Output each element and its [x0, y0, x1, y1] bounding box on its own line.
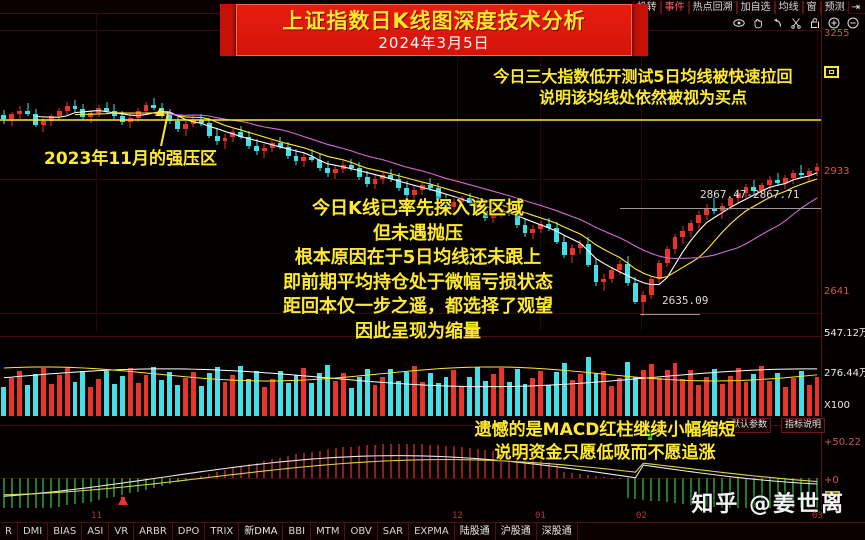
candlestick — [65, 14, 70, 332]
volume-bar — [309, 383, 314, 416]
volume-bar — [483, 381, 488, 416]
page-title: 上证指数日K线图深度技术分析 — [237, 8, 631, 34]
macd-histogram-bar — [271, 459, 273, 478]
macd-histogram-bar — [350, 447, 352, 478]
macd-histogram-bar — [327, 449, 329, 478]
volume-bar — [767, 381, 772, 416]
date-tick-label: 11 — [91, 511, 102, 521]
volume-bar — [562, 363, 567, 416]
candlestick — [783, 14, 788, 332]
volume-bar — [507, 382, 512, 417]
volume-bar — [325, 365, 330, 416]
macd-histogram-bar — [342, 447, 344, 478]
volume-bar — [33, 374, 38, 416]
volume-bar — [333, 381, 338, 416]
volume-bar — [641, 370, 646, 416]
macd-histogram-bar — [556, 464, 558, 478]
volume-bar — [775, 373, 780, 416]
volume-bar — [254, 371, 259, 416]
candlestick — [33, 14, 38, 332]
macd-histogram-bar — [19, 478, 21, 508]
volume-bar — [183, 378, 188, 416]
candlestick — [807, 14, 812, 332]
volume-bar — [467, 377, 472, 416]
candlestick — [144, 14, 149, 332]
macd-tick-high: +50.22 — [824, 437, 861, 448]
volume-bar — [17, 371, 22, 416]
volume-bar — [712, 369, 717, 416]
macd-histogram-bar — [287, 456, 289, 478]
date-tick-label: 03 — [812, 511, 823, 521]
macd-histogram-bar — [303, 453, 305, 478]
volume-bar — [538, 371, 543, 416]
volume-bar — [65, 367, 70, 416]
volume-bar — [673, 363, 678, 416]
toolbar-button-group: 机转 事件 热点回溯 加自选 均线 窗 预测 ⇥ — [633, 0, 863, 14]
macd-histogram-bar — [366, 445, 368, 478]
volume-bar — [238, 366, 243, 416]
volume-bar — [759, 366, 764, 416]
volume-bar — [373, 385, 378, 416]
macd-histogram-bar — [674, 478, 676, 503]
volume-bar — [1, 387, 6, 416]
indicator-button-R[interactable]: R — [0, 523, 18, 540]
volume-bar — [294, 375, 299, 416]
volume-bar — [215, 367, 220, 416]
volume-bar — [357, 377, 362, 417]
volume-bar — [278, 371, 283, 416]
volume-bar — [601, 371, 606, 416]
indicator-button-MTM[interactable]: MTM — [311, 523, 345, 540]
volume-bar — [649, 364, 654, 416]
candlestick — [673, 14, 678, 332]
macd-histogram-bar — [595, 476, 597, 478]
volume-bar — [720, 384, 725, 416]
indicator-button-沪股通[interactable]: 沪股通 — [496, 523, 537, 540]
candlestick — [128, 14, 133, 332]
macd-histogram-bar — [319, 451, 321, 478]
macd-histogram-bar — [295, 454, 297, 478]
macd-buy-signal-icon — [118, 496, 128, 505]
date-tick-label: 12 — [452, 511, 463, 521]
indicator-button-DMI[interactable]: DMI — [18, 523, 48, 540]
macd-histogram-bar — [113, 478, 115, 497]
volume-bar — [270, 379, 275, 416]
annotation-middle-line4: 即前期平均持仓处于微幅亏损状态 — [168, 271, 668, 296]
macd-histogram-bar — [177, 478, 179, 482]
volume-bar — [199, 386, 204, 416]
volume-bar — [388, 369, 393, 416]
macd-histogram-bar — [98, 478, 100, 500]
macd-histogram-bar — [145, 478, 147, 490]
macd-histogram-bar — [42, 478, 44, 508]
macd-tick-zero: +0 — [824, 475, 839, 486]
candlestick — [41, 14, 46, 332]
volume-bar — [151, 367, 156, 416]
macd-histogram-bar — [619, 478, 621, 479]
indicator-button-BBI[interactable]: BBI — [283, 523, 311, 540]
volume-bar — [594, 373, 599, 416]
annotation-top-right-line1: 今日三大指数低开测试5日均线被快速拉回 — [443, 66, 843, 87]
volume-bar — [262, 387, 267, 416]
volume-bar — [815, 377, 820, 416]
volume-bar — [728, 376, 733, 416]
volume-bar — [365, 369, 370, 416]
candlestick — [57, 14, 62, 332]
indicator-button-新DMA[interactable]: 新DMA — [239, 523, 283, 540]
annotation-left-zone: 2023年11月的强压区 — [44, 148, 217, 170]
volume-bar — [459, 386, 464, 416]
volume-bar — [207, 373, 212, 416]
volume-bar — [128, 368, 133, 416]
volume-bar — [428, 373, 433, 416]
date-tick-label: 01 — [535, 511, 546, 521]
volume-bar — [546, 385, 551, 416]
indicator-toolbar: RDMIBIASASIVRARBRDPOTRIX新DMABBIMTMOBVSAR… — [0, 522, 865, 540]
macd-histogram-bar — [161, 478, 163, 486]
tab-chuang[interactable]: 窗 — [803, 1, 821, 14]
volume-bar — [9, 378, 14, 416]
macd-histogram-bar — [137, 478, 139, 492]
candlestick — [25, 14, 30, 332]
volume-bar — [57, 375, 62, 416]
macd-histogram-bar — [27, 478, 29, 508]
macd-histogram-bar — [185, 478, 187, 480]
annotation-macd-line1: 遗憾的是MACD红柱继续小幅缩短 — [385, 419, 825, 442]
volume-bar — [167, 372, 172, 416]
volume-bar — [554, 372, 559, 416]
candlestick — [1, 14, 6, 332]
macd-histogram-bar — [216, 472, 218, 478]
candlestick — [112, 14, 117, 332]
volume-bar — [380, 377, 385, 416]
macd-histogram-bar — [129, 478, 131, 493]
macd-histogram-bar — [603, 477, 605, 478]
volume-bar — [586, 357, 591, 416]
volume-bar — [530, 378, 535, 416]
trading-chart-app: 机转 事件 热点回溯 加自选 均线 窗 预测 ⇥ — [0, 0, 865, 540]
macd-histogram-bar — [382, 444, 384, 478]
volume-bar — [246, 379, 251, 416]
volume-bar — [420, 382, 425, 417]
macd-histogram-bar — [3, 478, 5, 508]
tab-jiazixuan[interactable]: 加自选 — [737, 1, 775, 14]
macd-histogram-bar — [374, 445, 376, 478]
annotation-middle: 今日K线已率先探入该区域 但未遇抛压 根本原因在于5日均线还未跟上 即前期平均持… — [168, 197, 668, 344]
annotation-macd: 遗憾的是MACD红柱继续小幅缩短 说明资金只愿低吸而不愿追涨 — [385, 419, 825, 465]
volume-bar — [751, 374, 756, 416]
volume-bar — [491, 374, 496, 416]
annotation-top-right: 今日三大指数低开测试5日均线被快速拉回 说明该均线处依然被视为买点 — [443, 66, 843, 108]
volume-bar — [475, 367, 480, 416]
macd-histogram-bar — [169, 478, 171, 484]
volume-bar — [444, 377, 449, 416]
annotation-middle-line3: 根本原因在于5日均线还未跟上 — [168, 246, 668, 271]
candlestick — [775, 14, 780, 332]
annotation-middle-line2: 但未遇抛压 — [168, 222, 668, 247]
zone-arrow-icon — [155, 108, 165, 116]
candlestick — [73, 14, 78, 332]
macd-histogram-bar — [634, 478, 636, 499]
macd-histogram-bar — [358, 446, 360, 478]
indicator-button-BIAS[interactable]: BIAS — [48, 523, 82, 540]
macd-histogram-bar — [240, 466, 242, 478]
candlestick — [704, 14, 709, 332]
volume-bar — [341, 373, 346, 416]
volume-bar — [570, 380, 575, 416]
volume-bar — [704, 377, 709, 416]
macd-histogram-bar — [563, 472, 565, 478]
volume-bar — [680, 379, 685, 416]
candlestick — [136, 14, 141, 332]
volume-bar — [665, 370, 670, 416]
macd-histogram-bar — [224, 470, 226, 478]
indicator-button-SAR[interactable]: SAR — [378, 523, 409, 540]
indicator-button-陆股通[interactable]: 陆股通 — [455, 523, 496, 540]
volume-bar — [436, 383, 441, 416]
tab-redian-huisu[interactable]: 热点回溯 — [689, 1, 737, 14]
volume-bar — [144, 375, 149, 416]
macd-histogram-bar — [263, 461, 265, 478]
candlestick — [159, 14, 164, 332]
macd-histogram-bar — [571, 473, 573, 478]
candlestick — [712, 14, 717, 332]
indicator-button-VR[interactable]: VR — [109, 523, 134, 540]
volume-panel[interactable] — [0, 336, 821, 416]
volume-bar — [499, 368, 504, 416]
macd-histogram-bar — [579, 474, 581, 478]
macd-histogram-bar — [200, 476, 202, 478]
volume-bar — [349, 388, 354, 416]
volume-bar — [175, 385, 180, 416]
candlestick — [791, 14, 796, 332]
volume-bar — [112, 384, 117, 416]
resistance-range-tag: 2867.47-2867.71 — [700, 188, 799, 201]
price-tick-2641: 2641 — [824, 286, 849, 297]
volume-bar — [696, 385, 701, 416]
annotation-middle-line5: 距回本仅一步之遥，都选择了观望 — [168, 295, 668, 320]
candlestick — [728, 14, 733, 332]
annotation-macd-line2: 说明资金只愿低吸而不愿追涨 — [385, 442, 825, 465]
volume-tick-high: 547.12万 — [824, 324, 865, 339]
indicator-button-EXPMA[interactable]: EXPMA — [409, 523, 455, 540]
volume-bar — [633, 377, 638, 416]
candlestick — [799, 14, 804, 332]
candlestick — [17, 14, 22, 332]
volume-bar — [404, 372, 409, 416]
volume-bar — [617, 378, 622, 416]
volume-bar — [230, 375, 235, 416]
macd-histogram-bar — [11, 478, 13, 508]
tab-junxian[interactable]: 均线 — [775, 1, 803, 14]
macd-histogram-bar — [642, 478, 644, 500]
volume-bar — [451, 370, 456, 416]
candlestick — [49, 14, 54, 332]
candlestick — [151, 14, 156, 332]
macd-histogram-bar — [106, 478, 108, 498]
candlestick — [680, 14, 685, 332]
price-tick-2933: 2933 — [824, 166, 849, 177]
volume-bar — [515, 369, 520, 416]
collapse-right-icon[interactable]: ⇥ — [849, 2, 863, 13]
macd-histogram-bar — [658, 478, 660, 501]
volume-bar — [317, 373, 322, 416]
candlestick — [815, 14, 820, 332]
macd-histogram-bar — [650, 478, 652, 501]
volume-bar — [736, 368, 741, 416]
indicator-button-ARBR[interactable]: ARBR — [134, 523, 173, 540]
indicator-button-TRIX[interactable]: TRIX — [205, 523, 239, 540]
volume-bar — [286, 383, 291, 416]
macd-histogram-bar — [82, 478, 84, 503]
indicator-button-ASI[interactable]: ASI — [82, 523, 109, 540]
volume-bar — [799, 371, 804, 416]
volume-unit-label: X100 — [824, 400, 850, 411]
volume-bar — [791, 378, 796, 416]
candlestick — [720, 14, 725, 332]
price-tick-3255: 3255 — [824, 28, 849, 39]
volume-bar — [49, 384, 54, 416]
volume-bar — [744, 382, 749, 416]
macd-histogram-bar — [248, 464, 250, 478]
macd-histogram-bar — [121, 478, 123, 495]
volume-bar — [25, 385, 30, 416]
macd-histogram-bar — [153, 478, 155, 488]
macd-histogram-bar — [66, 478, 68, 505]
macd-histogram-bar — [311, 452, 313, 478]
title-banner: 上证指数日K线图深度技术分析 2024年3月5日 — [236, 4, 632, 56]
tab-yuce[interactable]: 预测 — [821, 1, 849, 14]
macd-histogram-bar — [335, 448, 337, 478]
macd-histogram-bar — [58, 478, 60, 507]
candlestick — [759, 14, 764, 332]
volume-bar — [159, 380, 164, 416]
macd-histogram-bar — [50, 478, 52, 508]
candlestick — [88, 14, 93, 332]
volume-bar — [783, 387, 788, 416]
candlestick — [9, 14, 14, 332]
volume-bar — [657, 378, 662, 416]
volume-tick-mid: 276.44万 — [824, 364, 865, 379]
macd-histogram-bar — [208, 474, 210, 478]
macd-histogram-bar — [279, 458, 281, 478]
candlestick — [96, 14, 101, 332]
macd-histogram-bar — [627, 478, 629, 498]
volume-bar — [120, 376, 125, 416]
macd-histogram-bar — [256, 463, 258, 478]
volume-bar — [41, 368, 46, 416]
volume-bar — [301, 368, 306, 416]
volume-bar — [191, 372, 196, 416]
volume-bar — [88, 387, 93, 416]
volume-bar — [578, 374, 583, 416]
volume-bar — [96, 379, 101, 416]
indicator-button-OBV[interactable]: OBV — [345, 523, 377, 540]
macd-histogram-bar — [232, 468, 234, 478]
volume-bar — [396, 381, 401, 416]
volume-bar — [688, 370, 693, 416]
date-tick-label: 02 — [636, 511, 647, 521]
macd-histogram-bar — [587, 475, 589, 478]
candlestick — [688, 14, 693, 332]
volume-axis: 547.12万 276.44万 X100 — [821, 322, 865, 422]
macd-histogram-bar — [74, 478, 76, 504]
annotation-middle-line1: 今日K线已率先探入该区域 — [168, 197, 668, 222]
macd-histogram-bar — [35, 478, 37, 508]
banner-left-flag — [220, 4, 236, 56]
candlestick — [751, 14, 756, 332]
macd-histogram-bar — [682, 478, 684, 504]
indicator-button-DPO[interactable]: DPO — [173, 523, 206, 540]
candlestick — [736, 14, 741, 332]
volume-bar — [625, 362, 630, 416]
volume-bar — [523, 384, 528, 416]
date-axis: 1112010203 — [0, 510, 821, 522]
candlestick — [80, 14, 85, 332]
macd-histogram-bar — [666, 478, 668, 502]
candlestick — [104, 14, 109, 332]
banner-right-flag — [632, 4, 648, 56]
annotation-top-right-line2: 说明该均线处依然被视为买点 — [443, 87, 843, 108]
volume-bar — [136, 383, 141, 416]
indicator-button-深股通[interactable]: 深股通 — [537, 523, 578, 540]
volume-bar — [73, 382, 78, 417]
volume-bar — [412, 366, 417, 416]
candlestick — [696, 14, 701, 332]
low-price-tag: 2635.09 — [662, 294, 708, 307]
page-date: 2024年3月5日 — [237, 34, 631, 53]
annotation-middle-line6: 因此呈现为缩量 — [168, 320, 668, 345]
volume-bar — [807, 385, 812, 416]
candlestick — [767, 14, 772, 332]
tab-shijian[interactable]: 事件 — [661, 1, 689, 14]
candlestick — [120, 14, 125, 332]
volume-bar — [80, 371, 85, 416]
macd-histogram-bar — [90, 478, 92, 502]
candlestick — [744, 14, 749, 332]
volume-bar — [609, 386, 614, 416]
volume-bar — [104, 371, 109, 416]
volume-bar — [223, 382, 228, 416]
